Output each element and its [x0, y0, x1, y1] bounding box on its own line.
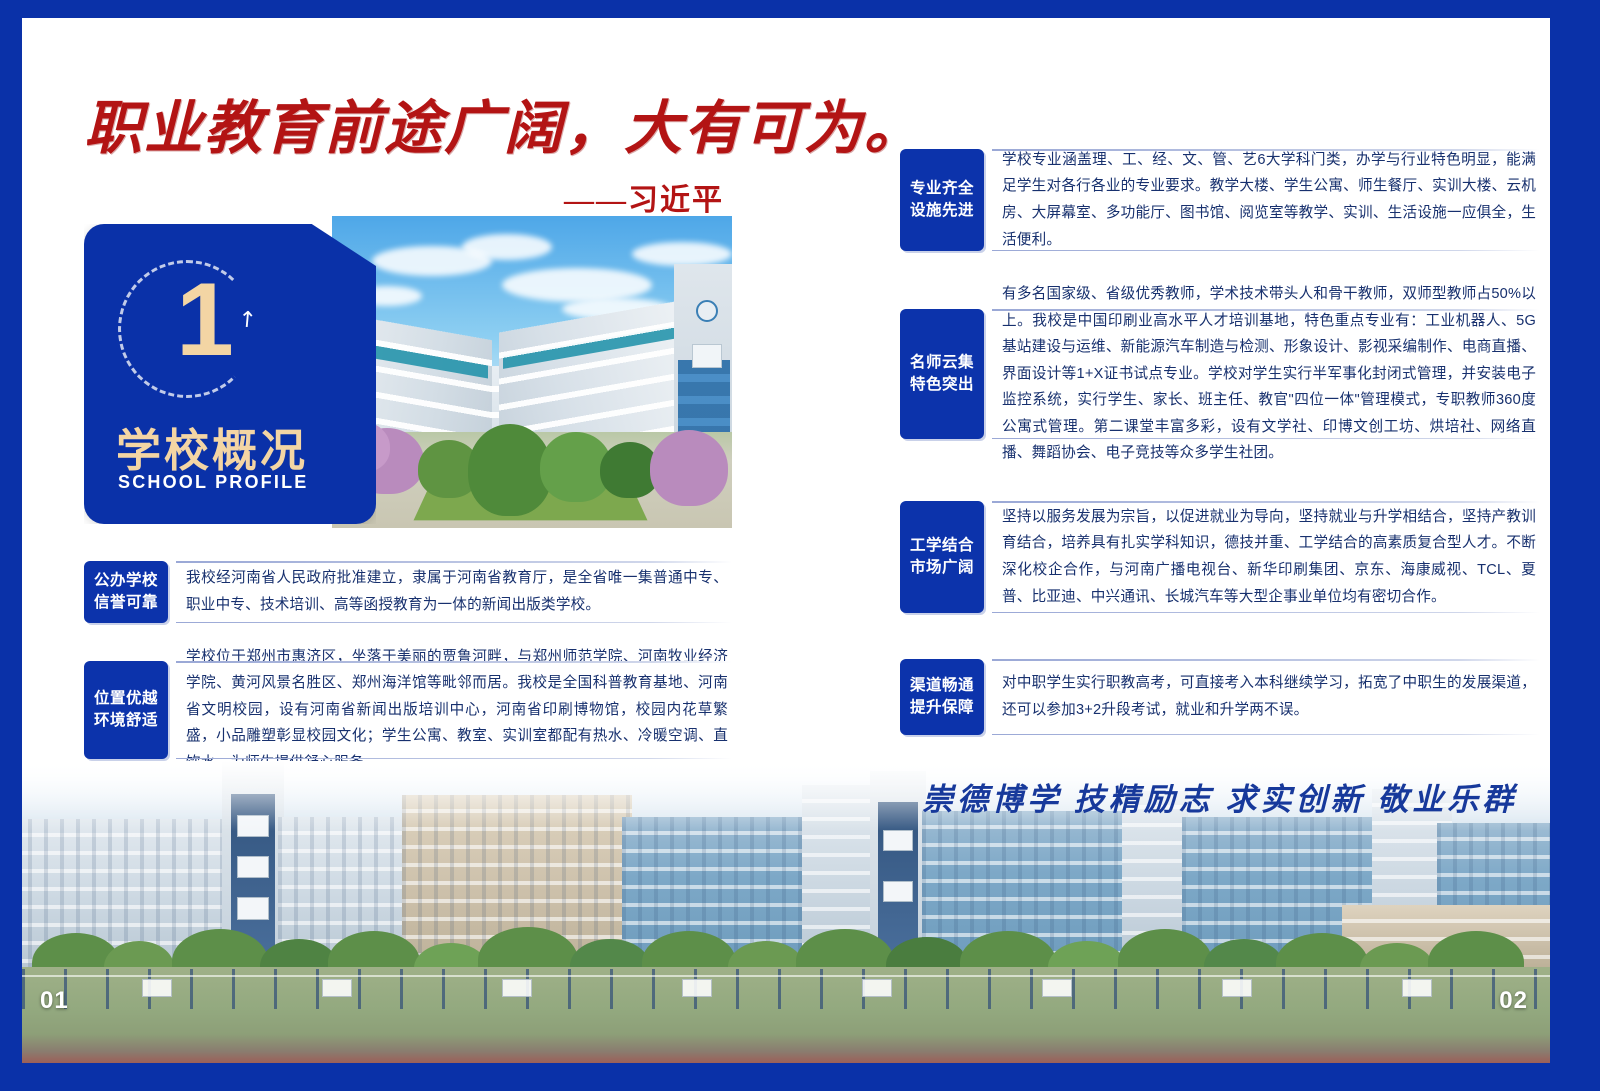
- section-title-en: SCHOOL PROFILE: [118, 472, 308, 493]
- fence-banner: [142, 979, 172, 997]
- fence-banner: [862, 979, 892, 997]
- feature-tag: 位置优越 环境舒适: [84, 661, 168, 759]
- feature-tag: 专业齐全 设施先进: [900, 149, 984, 251]
- tower-plaque: [237, 897, 269, 920]
- hero-block: ↗ 1 学校概况 SCHOOL PROFILE: [84, 216, 732, 528]
- feature-tag-line2: 设施先进: [910, 200, 974, 222]
- feature-tag-line1: 专业齐全: [910, 178, 974, 200]
- headline-quote: 职业教育前途广阔，大有可为。: [84, 96, 744, 163]
- section-cover-card: ↗ 1 学校概况 SCHOOL PROFILE: [84, 224, 376, 524]
- feature-tag-line1: 渠道畅通: [910, 675, 974, 697]
- school-motto: 崇德博学 技精励志 求实创新 敬业乐群: [922, 774, 1517, 819]
- feature-tag-line2: 信誉可靠: [94, 592, 158, 614]
- section-cover-inner: ↗ 1 学校概况 SCHOOL PROFILE: [84, 224, 376, 524]
- feature-tag: 名师云集 特色突出: [900, 309, 984, 439]
- feature-work-study: 工学结合 市场广阔 坚持以服务发展为宗旨，以促进就业为导向，坚持就业与升学相结合…: [900, 501, 1540, 613]
- school-emblem-icon: [692, 344, 722, 368]
- headline-attribution: ——习近平: [84, 175, 744, 219]
- feature-body: 学校专业涵盖理、工、经、文、管、艺6大学科门类，办学与行业特色明显，能满足学生对…: [984, 149, 1540, 251]
- campus-courtyard-photo: [332, 216, 732, 528]
- field-fence: [22, 969, 1550, 1009]
- courtyard-ground: [332, 432, 732, 528]
- tower-plaque: [883, 830, 912, 852]
- feature-body: 有多名国家级、省级优秀教师，学术技术带头人和骨干教师，双师型教师占50%以上。我…: [984, 309, 1540, 439]
- section-title-cn: 学校概况: [116, 414, 308, 479]
- feature-body-text: 坚持以服务发展为宗旨，以促进就业为导向，坚持就业与升学相结合，坚持产教训育结合，…: [1002, 504, 1536, 610]
- feature-tag-line1: 公办学校: [94, 570, 158, 592]
- feature-tag: 渠道畅通 提升保障: [900, 659, 984, 735]
- feature-body-text: 我校经河南省人民政府批准建立，隶属于河南省教育厅，是全省唯一集普通中专、职业中专…: [186, 565, 728, 618]
- feature-tag-line2: 提升保障: [910, 697, 974, 719]
- feature-body: 坚持以服务发展为宗旨，以促进就业为导向，坚持就业与升学相结合，坚持产教训育结合，…: [984, 501, 1540, 613]
- feature-body: 对中职学生实行职教高考，可直接考入本科继续学习，拓宽了中职生的发展渠道，还可以参…: [984, 659, 1540, 735]
- section-number: 1: [176, 268, 234, 372]
- feature-advancement: 渠道畅通 提升保障 对中职学生实行职教高考，可直接考入本科继续学习，拓宽了中职生…: [900, 659, 1540, 735]
- cloud-shape: [632, 242, 732, 266]
- cloud-shape: [462, 234, 552, 260]
- page-number-right: 02: [1499, 987, 1528, 1015]
- fence-banner: [1402, 979, 1432, 997]
- tower-clock-icon: [696, 300, 718, 322]
- tree-shape: [650, 430, 728, 506]
- brochure-spread: 职业教育前途广阔，大有可为。 ——习近平: [0, 0, 1600, 1091]
- feature-public-school: 公办学校 信誉可靠 我校经河南省人民政府批准建立，隶属于河南省教育厅，是全省唯一…: [84, 561, 732, 623]
- feature-tag-line2: 特色突出: [910, 374, 974, 396]
- feature-body: 学校位于郑州市惠济区，坐落于美丽的贾鲁河畔，与郑州师范学院、河南牧业经济学院、黄…: [168, 661, 732, 759]
- feature-body: 我校经河南省人民政府批准建立，隶属于河南省教育厅，是全省唯一集普通中专、职业中专…: [168, 561, 732, 623]
- feature-location: 位置优越 环境舒适 学校位于郑州市惠济区，坐落于美丽的贾鲁河畔，与郑州师范学院、…: [84, 661, 732, 759]
- headline-block: 职业教育前途广阔，大有可为。 ——习近平: [84, 96, 744, 219]
- feature-body-text: 有多名国家级、省级优秀教师，学术技术带头人和骨干教师，双师型教师占50%以上。我…: [1002, 281, 1536, 467]
- tower-plaque: [237, 856, 269, 879]
- feature-body-text: 学校位于郑州市惠济区，坐落于美丽的贾鲁河畔，与郑州师范学院、河南牧业经济学院、黄…: [186, 644, 728, 777]
- fence-rail: [22, 975, 1550, 977]
- feature-faculty: 名师云集 特色突出 有多名国家级、省级优秀教师，学术技术带头人和骨干教师，双师型…: [900, 309, 1540, 439]
- feature-tag-line2: 环境舒适: [94, 710, 158, 732]
- feature-majors-facilities: 专业齐全 设施先进 学校专业涵盖理、工、经、文、管、艺6大学科门类，办学与行业特…: [900, 149, 1540, 251]
- feature-body-text: 对中职学生实行职教高考，可直接考入本科继续学习，拓宽了中职生的发展渠道，还可以参…: [1002, 670, 1536, 723]
- feature-tag: 公办学校 信誉可靠: [84, 561, 168, 623]
- feature-tag-line2: 市场广阔: [910, 557, 974, 579]
- fence-banner: [1042, 979, 1072, 997]
- fence-banner: [682, 979, 712, 997]
- page-canvas: 职业教育前途广阔，大有可为。 ——习近平: [22, 18, 1550, 1063]
- feature-tag-line1: 位置优越: [94, 688, 158, 710]
- fence-banner: [502, 979, 532, 997]
- cloud-shape: [502, 268, 652, 302]
- page-number-left: 01: [40, 987, 69, 1015]
- fence-banner: [1222, 979, 1252, 997]
- fence-banner: [322, 979, 352, 997]
- feature-tag-line1: 工学结合: [910, 535, 974, 557]
- tower-plaque: [883, 881, 912, 903]
- feature-tag-line1: 名师云集: [910, 352, 974, 374]
- feature-tag: 工学结合 市场广阔: [900, 501, 984, 613]
- feature-body-text: 学校专业涵盖理、工、经、文、管、艺6大学科门类，办学与行业特色明显，能满足学生对…: [1002, 147, 1536, 253]
